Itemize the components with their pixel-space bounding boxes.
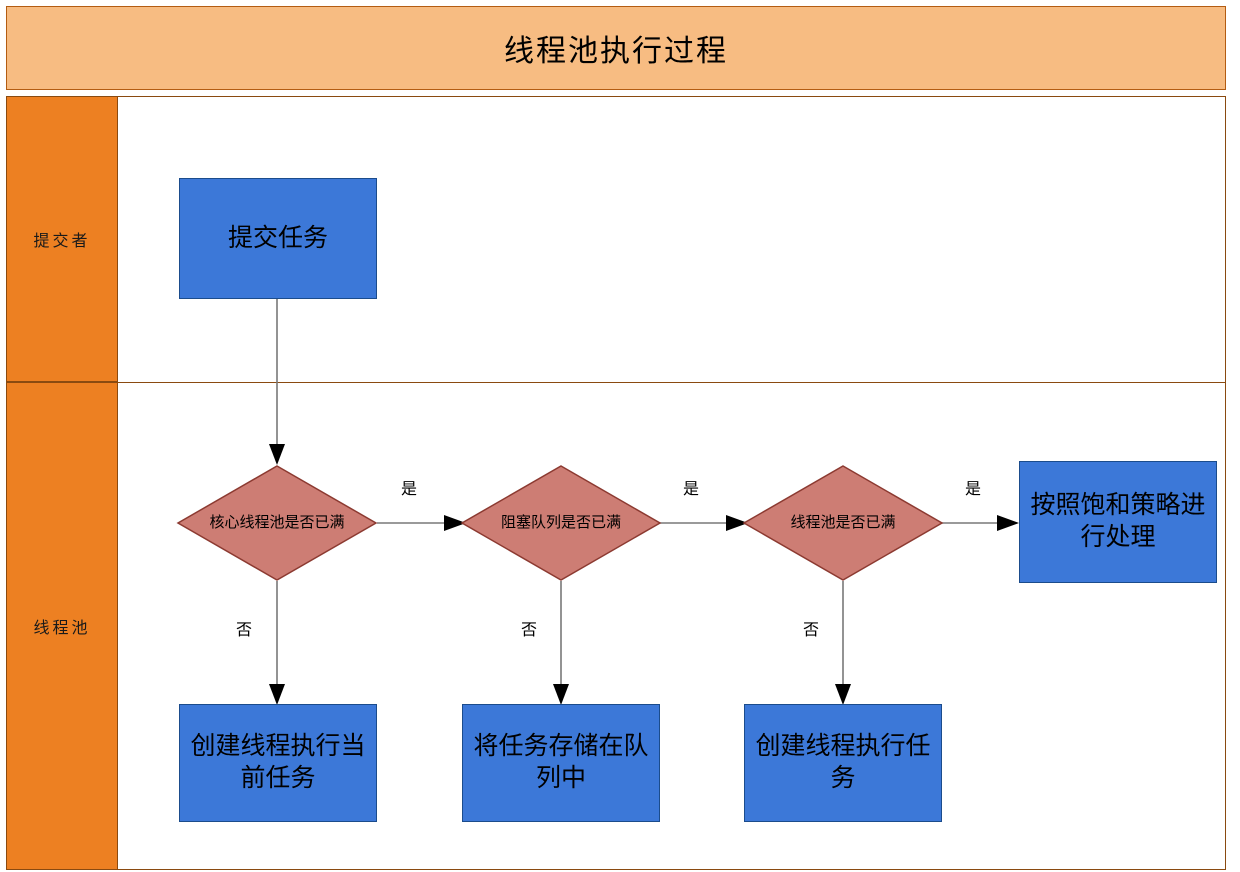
node-saturation[interactable]: 按照饱和策略进行处理 bbox=[1019, 461, 1217, 583]
node-label-saturation: 按照饱和策略进行处理 bbox=[1026, 490, 1210, 554]
diagram-title: 线程池执行过程 bbox=[504, 26, 728, 70]
node-create-exec-current[interactable]: 创建线程执行当前任务 bbox=[179, 704, 377, 822]
node-label-submit-task: 提交任务 bbox=[228, 223, 328, 255]
diamond-shape-pool-full bbox=[743, 465, 943, 581]
node-label-create-exec-task: 创建线程执行任务 bbox=[751, 731, 935, 795]
diamond-shape-core-pool-full bbox=[177, 465, 377, 581]
edge-label-yes-3: 是 bbox=[965, 475, 981, 499]
edge-label-no-2: 否 bbox=[521, 616, 537, 640]
lane-header-pool: 线程池 bbox=[6, 382, 118, 870]
node-label-store-in-queue: 将任务存储在队列中 bbox=[469, 731, 653, 795]
node-queue-full[interactable]: 阻塞队列是否已满 bbox=[461, 465, 661, 581]
lane-label-submitter: 提交者 bbox=[33, 227, 90, 251]
node-store-in-queue[interactable]: 将任务存储在队列中 bbox=[462, 704, 660, 822]
edge-label-no-1: 否 bbox=[236, 616, 252, 640]
edge-label-yes-2: 是 bbox=[683, 475, 699, 499]
edge-label-no-3: 否 bbox=[803, 616, 819, 640]
lane-label-pool: 线程池 bbox=[33, 614, 90, 638]
diamond-shape-queue-full bbox=[461, 465, 661, 581]
node-pool-full[interactable]: 线程池是否已满 bbox=[743, 465, 943, 581]
lane-header-submitter: 提交者 bbox=[6, 96, 118, 382]
node-submit-task[interactable]: 提交任务 bbox=[179, 178, 377, 299]
node-create-exec-task[interactable]: 创建线程执行任务 bbox=[744, 704, 942, 822]
node-label-create-exec-current: 创建线程执行当前任务 bbox=[186, 731, 370, 795]
edge-label-yes-1: 是 bbox=[401, 475, 417, 499]
diagram-canvas: 线程池执行过程 提交者 线程池 提交任务 bbox=[0, 0, 1240, 872]
diagram-title-banner: 线程池执行过程 bbox=[6, 6, 1226, 90]
node-core-pool-full[interactable]: 核心线程池是否已满 bbox=[177, 465, 377, 581]
